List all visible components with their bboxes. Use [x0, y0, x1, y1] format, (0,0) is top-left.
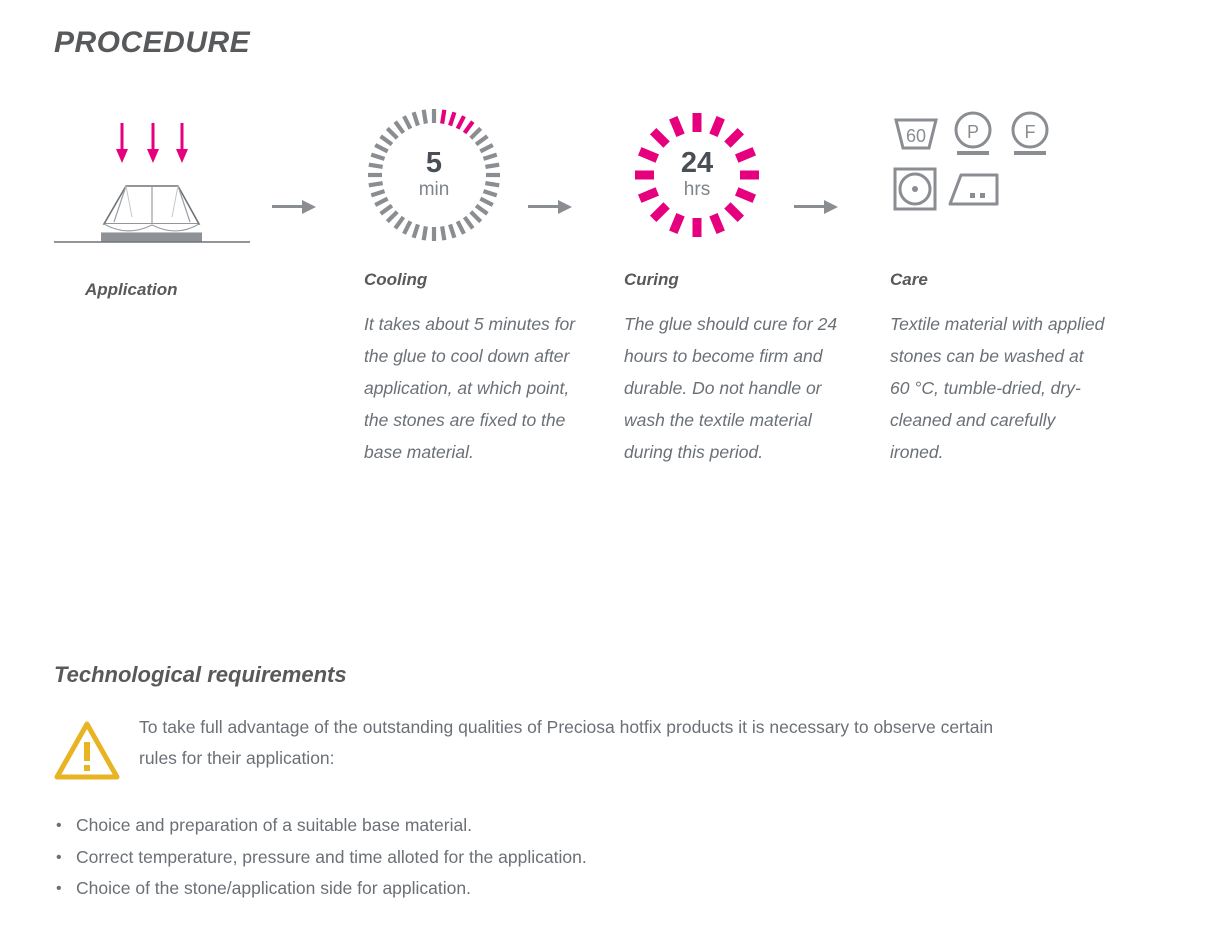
wash-tub-60-icon: 60	[890, 108, 942, 158]
tech-note-row: To take full advantage of the outstandin…	[54, 712, 1014, 782]
tech-note-text: To take full advantage of the outstandin…	[139, 712, 1014, 774]
burst-timer-value: 24	[681, 149, 713, 178]
dryclean-f-icon: F	[1004, 108, 1056, 158]
list-item: Choice and preparation of a suitable bas…	[54, 810, 1054, 842]
care-icon-area: 60 P F	[890, 105, 1105, 270]
dryclean-p-label: P	[967, 122, 979, 142]
dryclean-p-icon: P	[947, 108, 999, 158]
arrow-shaft	[272, 205, 304, 208]
dryclean-f-label: F	[1025, 122, 1036, 142]
warning-triangle-icon	[54, 720, 120, 782]
cooling-icon-area: 5 min	[364, 105, 579, 270]
list-item: Choice of the stone/application side for…	[54, 873, 1054, 905]
step-body-cooling: It takes about 5 minutes for the glue to…	[364, 308, 579, 468]
tech-bullet-list: Choice and preparation of a suitable bas…	[54, 810, 1054, 905]
stone-application-icon	[54, 105, 254, 255]
application-icon-area	[54, 105, 254, 270]
arrow-right-icon-1	[272, 200, 320, 214]
step-curing: 24 hrs Curing The glue should cure for 2…	[624, 105, 839, 468]
wash-temperature-label: 60	[906, 126, 926, 146]
step-heading-application: Application	[85, 280, 254, 300]
step-application: Application	[54, 105, 254, 318]
tech-requirements-title: Technological requirements	[54, 662, 347, 688]
timer-dial-label: 5 min	[364, 105, 504, 245]
burst-timer-unit: hrs	[684, 178, 710, 202]
step-heading-care: Care	[890, 270, 1105, 290]
step-care: 60 P F	[890, 105, 1105, 468]
timer-dial-unit: min	[419, 178, 450, 202]
list-item: Correct temperature, pressure and time a…	[54, 842, 1054, 874]
timer-dial-value: 5	[426, 149, 442, 178]
burst-timer-label: 24 hrs	[632, 110, 762, 240]
iron-icon	[947, 164, 999, 214]
step-body-care: Textile material with applied stones can…	[890, 308, 1105, 468]
step-body-curing: The glue should cure for 24 hours to bec…	[624, 308, 839, 468]
step-heading-cooling: Cooling	[364, 270, 579, 290]
tumble-dry-icon	[890, 164, 942, 214]
burst-timer-icon: 24 hrs	[632, 110, 762, 240]
step-heading-curing: Curing	[624, 270, 839, 290]
procedure-steps: Application 5 min Cooling It takes about…	[0, 105, 1213, 575]
arrow-head	[302, 200, 316, 214]
timer-dial-icon: 5 min	[364, 105, 504, 245]
care-symbols-group: 60 P F	[890, 108, 1061, 216]
curing-icon-area: 24 hrs	[624, 105, 839, 270]
page-title: PROCEDURE	[54, 26, 250, 60]
step-cooling: 5 min Cooling It takes about 5 minutes f…	[364, 105, 579, 468]
